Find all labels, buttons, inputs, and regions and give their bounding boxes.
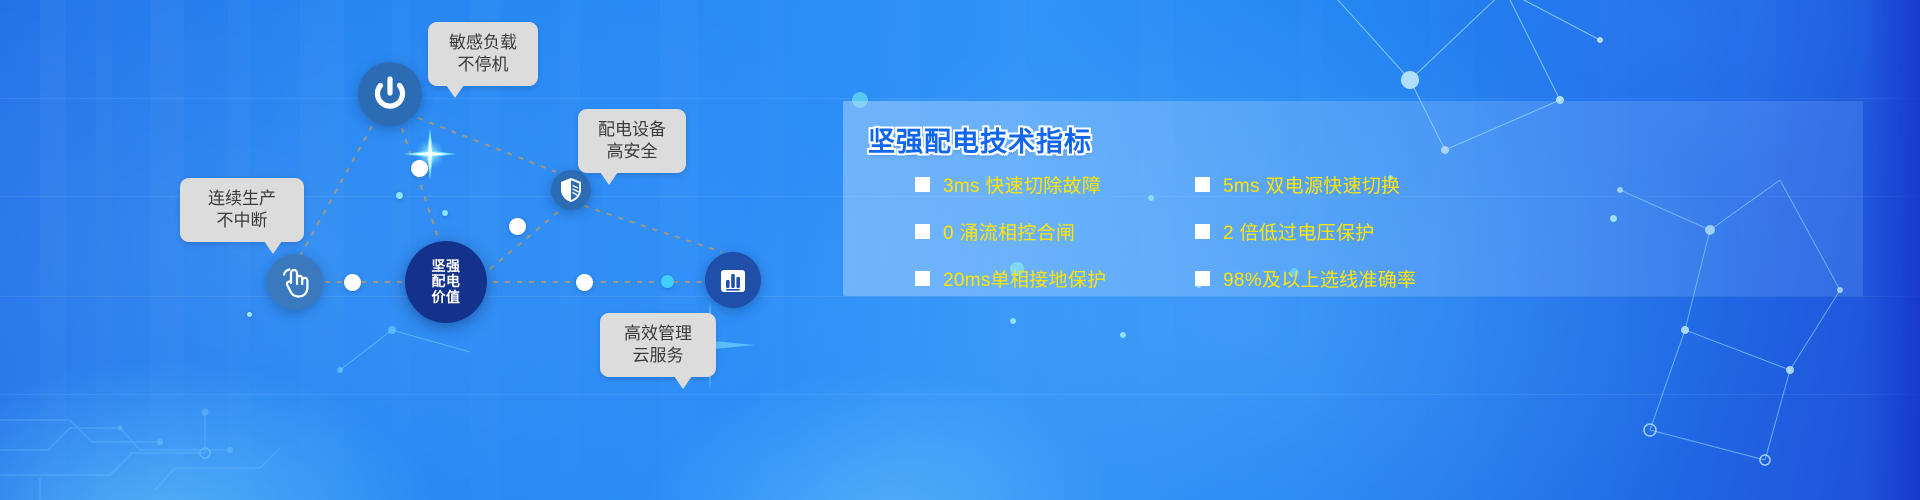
hub-node[interactable]: 坚强 配电 价值 xyxy=(405,241,487,323)
connector-waypoint xyxy=(411,160,428,177)
panel-title: 坚强配电技术指标 xyxy=(868,120,1092,159)
connector-waypoint xyxy=(661,275,674,288)
sparkle-dot xyxy=(1010,318,1016,324)
hub-label-line2: 配电 xyxy=(432,273,461,289)
callout-line-2: 高安全 xyxy=(592,141,672,163)
spec-item[interactable]: 0 涌流相控合闸 xyxy=(915,218,1190,245)
bullet-square-icon xyxy=(1195,271,1210,286)
spec-item[interactable]: 5ms 双电源快速切换 xyxy=(1195,171,1815,198)
connector-waypoint xyxy=(247,312,252,317)
connector-waypoint xyxy=(576,274,593,291)
bullet-square-icon xyxy=(915,271,930,286)
right-edge-gradient xyxy=(1862,0,1920,500)
callout-sensitive-load[interactable]: 敏感负载 不停机 xyxy=(428,22,538,86)
tech-spec-panel: 坚强配电技术指标 3ms 快速切除故障 5ms 双电源快速切换 0 涌流相控合闸… xyxy=(843,101,1863,296)
connector-waypoint xyxy=(509,218,526,235)
callout-cloud-service[interactable]: 高效管理 云服务 xyxy=(600,313,716,377)
spec-item[interactable]: 98%及以上选线准确率 xyxy=(1195,265,1815,292)
shield-icon xyxy=(559,177,583,203)
banner-stage: 坚强 配电 价值 敏感负载 不停机 配电设备 高安全 连续生产 不中断 高效管理… xyxy=(0,0,1920,500)
callout-line-1: 配电设备 xyxy=(592,119,672,141)
connector-waypoint xyxy=(442,210,448,216)
spec-label: 2 倍低过电压保护 xyxy=(1223,218,1375,245)
spec-item[interactable]: 3ms 快速切除故障 xyxy=(915,171,1190,198)
node-hand-touch[interactable] xyxy=(267,254,323,310)
bullet-square-icon xyxy=(1195,177,1210,192)
spec-list: 3ms 快速切除故障 5ms 双电源快速切换 0 涌流相控合闸 2 倍低过电压保… xyxy=(915,171,1815,292)
callout-continuous-production[interactable]: 连续生产 不中断 xyxy=(180,178,304,242)
sparkle-dot xyxy=(1120,332,1126,338)
bar-chart-icon xyxy=(717,264,749,296)
spec-label: 5ms 双电源快速切换 xyxy=(1223,171,1400,198)
callout-line-2: 不停机 xyxy=(442,54,524,76)
spec-label: 20ms单相接地保护 xyxy=(943,265,1106,292)
callout-equipment-safety[interactable]: 配电设备 高安全 xyxy=(578,109,686,173)
hub-label: 坚强 配电 价值 xyxy=(432,259,461,304)
hub-label-line1: 坚强 xyxy=(432,258,461,274)
hub-label-line3: 价值 xyxy=(432,289,461,305)
hand-touch-icon xyxy=(280,265,310,299)
connector-waypoint xyxy=(344,274,361,291)
node-bar-chart[interactable] xyxy=(705,252,761,308)
connector-waypoint xyxy=(396,192,403,199)
bullet-square-icon xyxy=(1195,224,1210,239)
node-power[interactable] xyxy=(358,62,422,126)
spec-label: 3ms 快速切除故障 xyxy=(943,171,1101,198)
callout-line-2: 不中断 xyxy=(194,210,290,232)
spec-item[interactable]: 2 倍低过电压保护 xyxy=(1195,218,1815,245)
power-icon xyxy=(370,74,410,114)
node-shield[interactable] xyxy=(551,170,591,210)
spec-label: 98%及以上选线准确率 xyxy=(1223,265,1416,292)
spec-label: 0 涌流相控合闸 xyxy=(943,218,1075,245)
callout-line-1: 连续生产 xyxy=(194,188,290,210)
bullet-square-icon xyxy=(915,224,930,239)
bullet-square-icon xyxy=(915,177,930,192)
callout-line-2: 云服务 xyxy=(614,345,702,367)
callout-line-1: 敏感负载 xyxy=(442,32,524,54)
spec-item[interactable]: 20ms单相接地保护 xyxy=(915,265,1190,292)
value-network-diagram: 坚强 配电 价值 敏感负载 不停机 配电设备 高安全 连续生产 不中断 高效管理… xyxy=(0,0,840,500)
callout-line-1: 高效管理 xyxy=(614,323,702,345)
